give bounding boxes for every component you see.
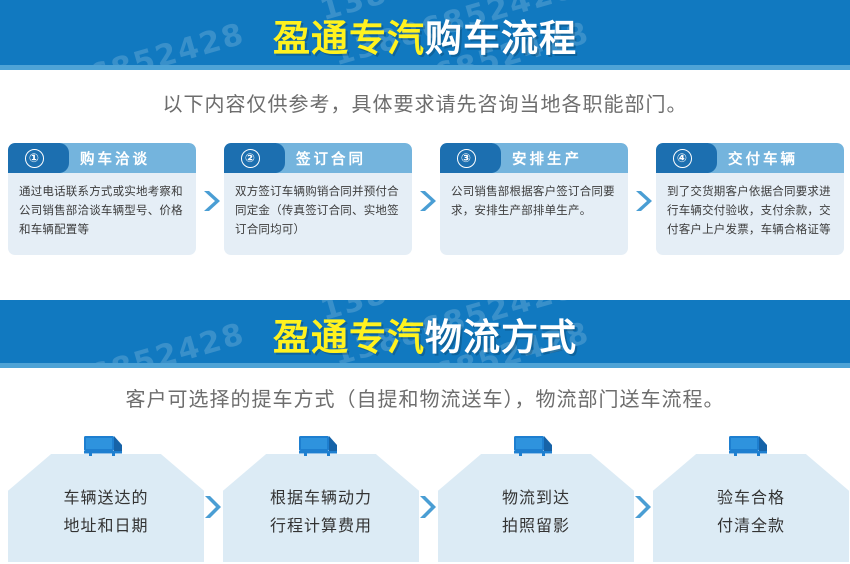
step-number-3: ③ <box>457 149 476 168</box>
logistics-card-3[interactable]: 物流到达 拍照留影 <box>438 432 634 562</box>
banner-title-rest: 购车流程 <box>425 17 577 60</box>
logistics-line1-2: 根据车辆动力 <box>223 484 419 512</box>
logistics-line2-2: 行程计算费用 <box>223 512 419 540</box>
watermark-text: 13886852428 <box>355 361 607 368</box>
banner-purchase-process: 1388685242813886852428138868524281388685… <box>0 0 850 70</box>
logistics-steps-row: 车辆送达的 地址和日期 根据车辆动力 行程计算费用 <box>0 432 850 564</box>
step-card-2[interactable]: ② 签订合同 双方签订车辆购销合同并预付合同定金（传真签订合同、实地签订合同均可… <box>224 143 412 255</box>
logistics-line2-1: 地址和日期 <box>8 512 204 540</box>
banner-logistics-method: 1388685242813886852428138868524281388685… <box>0 300 850 368</box>
logistics-line1-3: 物流到达 <box>438 484 634 512</box>
logistics-text-3: 物流到达 拍照留影 <box>438 484 634 539</box>
watermark-text: 13886852428 <box>0 316 249 368</box>
watermark-text: 13886852428 <box>0 16 249 70</box>
chevron-right-icon-5 <box>416 494 438 520</box>
step-number-1: ① <box>25 149 44 168</box>
logistics-line1-4: 验车合格 <box>653 484 849 512</box>
step-title-4: 交付车辆 <box>708 143 844 173</box>
subtitle-logistics-note: 客户可选择的提车方式（自提和物流送车），物流部门送车流程。 <box>0 383 850 412</box>
truck-icon-4 <box>726 432 776 460</box>
logistics-line2-3: 拍照留影 <box>438 512 634 540</box>
step-body-4: 到了交货期客户依据合同要求进行车辆交付验收，支付余款，交付客户上户发票，车辆合格… <box>656 173 844 239</box>
watermark-text: 13886852428 <box>10 62 262 70</box>
logistics-card-1[interactable]: 车辆送达的 地址和日期 <box>8 432 204 562</box>
step-card-4[interactable]: ④ 交付车辆 到了交货期客户依据合同要求进行车辆交付验收，支付余款，交付客户上户… <box>656 143 844 255</box>
step-body-2: 双方签订车辆购销合同并预付合同定金（传真签订合同、实地签订合同均可） <box>224 173 412 239</box>
page-root: 1388685242813886852428138868524281388685… <box>0 0 850 564</box>
step-title-2: 签订合同 <box>276 143 412 173</box>
step-title-3: 安排生产 <box>492 143 628 173</box>
logistics-text-4: 验车合格 付清全款 <box>653 484 849 539</box>
subtitle-purchase-note: 以下内容仅供参考，具体要求请先咨询当地各职能部门。 <box>0 88 850 117</box>
watermark-text: 13886852428 <box>11 362 263 368</box>
step-number-4: ④ <box>673 149 692 168</box>
step-header-1: ① 购车洽谈 <box>8 143 196 173</box>
truck-icon-2 <box>296 432 346 460</box>
step-title-1: 购车洽谈 <box>60 143 196 173</box>
step-number-2: ② <box>241 149 260 168</box>
logistics-text-1: 车辆送达的 地址和日期 <box>8 484 204 539</box>
step-number-badge-3: ③ <box>440 143 492 173</box>
banner-title-purchase: 盈通专汽购车流程 <box>273 8 577 62</box>
logistics-card-2[interactable]: 根据车辆动力 行程计算费用 <box>223 432 419 562</box>
step-header-4: ④ 交付车辆 <box>656 143 844 173</box>
truck-icon-1 <box>81 432 131 460</box>
truck-icon-3 <box>511 432 561 460</box>
step-card-3[interactable]: ③ 安排生产 公司销售部根据客户签订合同要求，安排生产部排单生产。 <box>440 143 628 255</box>
watermark-text: 13886852428 <box>355 61 607 70</box>
step-number-badge-1: ① <box>8 143 60 173</box>
banner-title-highlight: 盈通专汽 <box>273 17 425 60</box>
step-number-badge-4: ④ <box>656 143 708 173</box>
chevron-right-icon-6 <box>631 494 653 520</box>
logistics-line2-4: 付清全款 <box>653 512 849 540</box>
chevron-right-icon-1 <box>200 189 222 213</box>
purchase-steps-row: ① 购车洽谈 通过电话联系方式或实地考察和公司销售部洽谈车辆型号、价格和车辆配置… <box>0 143 850 258</box>
step-header-3: ③ 安排生产 <box>440 143 628 173</box>
step-number-badge-2: ② <box>224 143 276 173</box>
banner-title-logistics: 盈通专汽物流方式 <box>273 307 577 361</box>
step-body-3: 公司销售部根据客户签订合同要求，安排生产部排单生产。 <box>440 173 628 220</box>
banner-title-rest-2: 物流方式 <box>425 316 577 359</box>
step-card-1[interactable]: ① 购车洽谈 通过电话联系方式或实地考察和公司销售部洽谈车辆型号、价格和车辆配置… <box>8 143 196 255</box>
banner-title-highlight-2: 盈通专汽 <box>273 316 425 359</box>
chevron-right-icon-4 <box>201 494 223 520</box>
logistics-text-2: 根据车辆动力 行程计算费用 <box>223 484 419 539</box>
chevron-right-icon-3 <box>632 189 654 213</box>
logistics-card-4[interactable]: 验车合格 付清全款 <box>653 432 849 562</box>
logistics-line1-1: 车辆送达的 <box>8 484 204 512</box>
chevron-right-icon-2 <box>416 189 438 213</box>
step-header-2: ② 签订合同 <box>224 143 412 173</box>
step-body-1: 通过电话联系方式或实地考察和公司销售部洽谈车辆型号、价格和车辆配置等 <box>8 173 196 239</box>
